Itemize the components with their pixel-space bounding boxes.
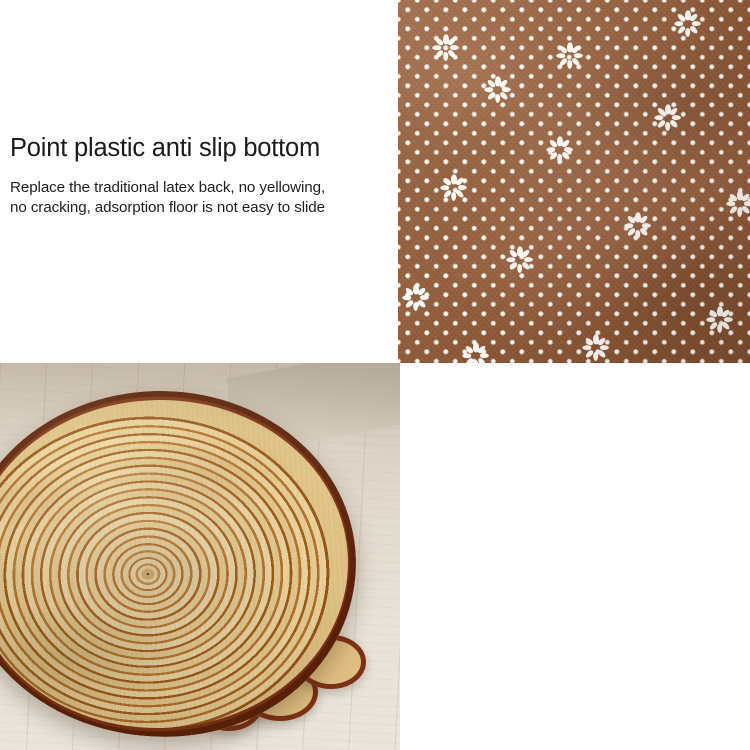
daisy-petal bbox=[564, 147, 573, 152]
daisy-petal bbox=[443, 52, 448, 61]
daisy-flower-icon bbox=[464, 344, 488, 363]
daisy-petal bbox=[499, 79, 509, 89]
daisy-petal bbox=[627, 215, 637, 225]
heading-point-plastic-anti-slip-bottom: Point plastic anti slip bottom bbox=[10, 134, 320, 163]
daisy-petal bbox=[709, 321, 719, 331]
daisy-petal bbox=[597, 349, 607, 359]
daisy-petal bbox=[451, 175, 456, 184]
daisy-petal bbox=[727, 201, 736, 206]
daisy-petal bbox=[583, 345, 592, 350]
daisy-petal bbox=[403, 295, 412, 300]
panel-top-left-text: Point plastic anti slip bottom Replace t… bbox=[0, 0, 400, 363]
daisy-petal bbox=[495, 94, 500, 103]
daisy-petal bbox=[737, 191, 742, 200]
fabric-weave-texture bbox=[398, 0, 750, 363]
daisy-petal bbox=[435, 49, 445, 59]
daisy-petal bbox=[669, 107, 679, 117]
daisy-petal bbox=[405, 287, 415, 297]
daisy-petal bbox=[657, 119, 667, 129]
daisy-petal bbox=[473, 343, 478, 352]
daisy-flower-icon bbox=[708, 308, 732, 332]
daisy-petal bbox=[557, 53, 566, 58]
daisy-flower-icon bbox=[656, 106, 680, 130]
daisy-flower-icon bbox=[626, 214, 650, 238]
daisy-petal bbox=[627, 227, 637, 237]
daisy-petal bbox=[450, 45, 459, 50]
daisy-petal bbox=[433, 45, 442, 50]
fabric-dot-grid bbox=[398, 0, 750, 363]
daisy-petal bbox=[675, 21, 684, 26]
daisy-petal bbox=[571, 45, 581, 55]
daisy-flower-icon bbox=[434, 36, 458, 60]
photo-anti-slip-fabric bbox=[398, 0, 750, 363]
daisy-petal bbox=[557, 137, 562, 146]
daisy-petal bbox=[685, 28, 690, 37]
daisy-flower-icon bbox=[404, 286, 428, 310]
daisy-petal bbox=[455, 189, 465, 199]
daisy-petal bbox=[509, 261, 519, 271]
daisy-flower-icon bbox=[508, 248, 532, 272]
daisy-petal bbox=[559, 45, 569, 55]
daisy-petal bbox=[495, 77, 500, 86]
daisy-petal bbox=[717, 307, 722, 316]
daisy-petal bbox=[635, 213, 640, 222]
daisy-petal bbox=[593, 335, 598, 344]
daisy-petal bbox=[567, 60, 572, 69]
body-point-plastic-anti-slip-bottom: Replace the traditional latex back, no y… bbox=[10, 178, 325, 217]
panel-bottom-right-text: Clearer design The production process ha… bbox=[400, 363, 750, 750]
daisy-petal bbox=[509, 249, 519, 259]
daisy-petal bbox=[465, 345, 475, 355]
daisy-petal bbox=[463, 353, 472, 358]
daisy-petal bbox=[441, 185, 450, 190]
daisy-petal bbox=[597, 337, 607, 347]
daisy-petal bbox=[721, 309, 731, 319]
daisy-petal bbox=[585, 349, 595, 359]
daisy-petal bbox=[499, 91, 509, 101]
daisy-petal bbox=[600, 345, 609, 350]
daisy-petal bbox=[417, 299, 427, 309]
daisy-petal bbox=[561, 151, 571, 161]
daisy-petal bbox=[639, 227, 649, 237]
daisy-flower-icon bbox=[442, 176, 466, 200]
daisy-petal bbox=[443, 189, 453, 199]
daisy-petal bbox=[413, 285, 418, 294]
daisy-petal bbox=[458, 185, 467, 190]
daisy-petal bbox=[707, 317, 716, 322]
daisy-petal bbox=[413, 302, 418, 311]
daisy-flower-icon bbox=[548, 138, 572, 162]
daisy-petal bbox=[447, 37, 457, 47]
daisy-petal bbox=[665, 122, 670, 131]
daisy-petal bbox=[487, 79, 497, 89]
daisy-petal bbox=[477, 345, 487, 355]
daisy-petal bbox=[480, 353, 489, 358]
daisy-petal bbox=[635, 230, 640, 239]
daisy-petal bbox=[502, 87, 511, 92]
daisy-flower-icon bbox=[486, 78, 510, 102]
photo-tree-ring-rug bbox=[0, 363, 400, 750]
daisy-petal bbox=[685, 11, 690, 20]
daisy-petal bbox=[737, 208, 742, 217]
daisy-petal bbox=[417, 287, 427, 297]
daisy-petal bbox=[677, 25, 687, 35]
daisy-petal bbox=[585, 337, 595, 347]
daisy-petal bbox=[443, 177, 453, 187]
daisy-flower-icon bbox=[558, 44, 582, 68]
daisy-petal bbox=[657, 107, 667, 117]
daisy-petal bbox=[672, 115, 681, 120]
daisy-petal bbox=[689, 25, 699, 35]
daisy-petal bbox=[655, 115, 664, 120]
daisy-petal bbox=[507, 257, 516, 262]
body-line: Replace the traditional latex back, no y… bbox=[10, 178, 325, 198]
daisy-petal bbox=[451, 192, 456, 201]
daisy-petal bbox=[574, 53, 583, 58]
daisy-flower-icon bbox=[728, 192, 750, 216]
daisy-petal bbox=[517, 247, 522, 256]
daisy-petal bbox=[689, 13, 699, 23]
daisy-petal bbox=[692, 21, 701, 26]
daisy-petal bbox=[559, 57, 569, 67]
daisy-petal bbox=[485, 87, 494, 92]
daisy-petal bbox=[744, 201, 750, 206]
daisy-petal bbox=[709, 309, 719, 319]
daisy-petal bbox=[729, 193, 739, 203]
daisy-flower-icon bbox=[676, 12, 700, 36]
daisy-petal bbox=[593, 352, 598, 361]
body-line: no cracking, adsorption floor is not eas… bbox=[10, 198, 325, 218]
daisy-flower-icon bbox=[584, 336, 608, 360]
daisy-petal bbox=[741, 205, 750, 215]
product-feature-collage: Point plastic anti slip bottom Replace t… bbox=[0, 0, 750, 750]
daisy-petal bbox=[665, 105, 670, 114]
daisy-petal bbox=[669, 119, 679, 129]
daisy-petal bbox=[729, 205, 739, 215]
daisy-petal bbox=[741, 193, 750, 203]
daisy-petal bbox=[435, 37, 445, 47]
daisy-petal bbox=[642, 223, 651, 228]
daisy-petal bbox=[455, 177, 465, 187]
daisy-petal bbox=[487, 91, 497, 101]
daisy-petal bbox=[557, 154, 562, 163]
daisy-petal bbox=[447, 49, 457, 59]
daisy-petal bbox=[521, 261, 531, 271]
fabric-lighting-overlay bbox=[398, 0, 750, 363]
daisy-petal bbox=[549, 139, 559, 149]
daisy-petal bbox=[721, 321, 731, 331]
daisy-petal bbox=[443, 35, 448, 44]
daisy-petal bbox=[571, 57, 581, 67]
daisy-petal bbox=[717, 324, 722, 333]
daisy-petal bbox=[677, 13, 687, 23]
daisy-petal bbox=[405, 299, 415, 309]
daisy-petal bbox=[625, 223, 634, 228]
daisy-petal bbox=[561, 139, 571, 149]
daisy-petal bbox=[524, 257, 533, 262]
daisy-petal bbox=[724, 317, 733, 322]
daisy-petal bbox=[639, 215, 649, 225]
daisy-petal bbox=[420, 295, 429, 300]
daisy-petal bbox=[549, 151, 559, 161]
daisy-petal bbox=[567, 43, 572, 52]
daisy-petal bbox=[517, 264, 522, 273]
daisy-petal bbox=[547, 147, 556, 152]
daisy-petal bbox=[521, 249, 531, 259]
